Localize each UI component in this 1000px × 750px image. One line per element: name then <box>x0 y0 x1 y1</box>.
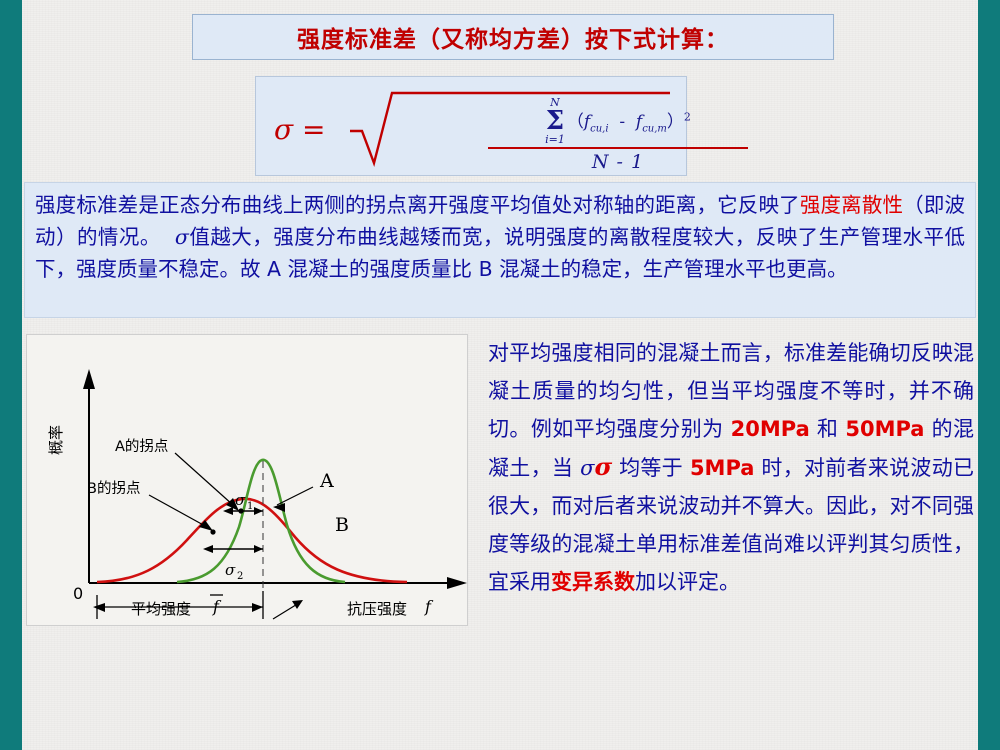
slide-stage: 强度标准差（又称均方差）按下式计算： σ = N Σ i=1 （fcu,i - … <box>0 0 1000 750</box>
p1-highlight-dispersion: 强度离散性 <box>800 193 903 217</box>
figure-mean-label: 平均强度 <box>131 600 191 618</box>
p2-sigma-red: σ <box>594 452 612 481</box>
figure-x-axis-symbol: f <box>424 597 434 616</box>
title-banner: 强度标准差（又称均方差）按下式计算： <box>192 14 834 60</box>
p2-sigma-blue: σ <box>580 456 594 480</box>
summation-symbol: N Σ i=1 <box>545 97 565 145</box>
p2-seg3: 和 <box>810 417 846 441</box>
p2-seg6: 均等于 <box>612 456 690 480</box>
paragraph-two-column: 对平均强度相同的混凝土而言，标准差能确切反映混凝土质量的均匀性，但当平均强度不等… <box>488 334 974 746</box>
formula-lhs: σ = <box>274 113 325 146</box>
figure-y-axis-label: 概率 <box>47 425 65 455</box>
figure-x-axis-label: 抗压强度 <box>347 600 407 618</box>
radical-sign: N Σ i=1 （fcu,i - fcu,m）2 N - 1 <box>348 85 668 167</box>
fraction-bar <box>488 147 748 149</box>
p2-value-5mpa: 5MPa <box>690 456 755 480</box>
paragraph-one-panel: 强度标准差是正态分布曲线上两侧的拐点离开强度平均值处对称轴的距离，它反映了强度离… <box>24 182 976 318</box>
figure-sigma2-label: σ <box>225 561 236 579</box>
p2-seg10: 加以评定。 <box>635 570 740 594</box>
numerator-expression: （fcu,i - fcu,m）2 <box>567 107 691 134</box>
page-title: 强度标准差（又称均方差）按下式计算： <box>297 20 729 54</box>
figure-callout-a: A的拐点 <box>115 438 168 455</box>
figure-sigma1-subscript: 1 <box>247 501 253 512</box>
p2-value-20mpa: 20MPa <box>731 417 810 441</box>
distribution-figure: 概率 0 A的拐点 B的拐点 A B σ 1 σ 2 平均强度 f 抗压强度 f <box>26 334 468 626</box>
fraction-denominator: N - 1 <box>478 151 758 173</box>
p1-sigma-symbol: σ <box>175 225 189 249</box>
fraction-numerator: N Σ i=1 （fcu,i - fcu,m）2 <box>478 97 758 145</box>
figure-curve-a-label: A <box>319 470 334 492</box>
paragraph-one-text: 强度标准差是正态分布曲线上两侧的拐点离开强度平均值处对称轴的距离，它反映了强度离… <box>35 189 965 285</box>
figure-origin-label: 0 <box>73 584 83 603</box>
figure-curve-b-label: B <box>335 514 349 536</box>
fraction: N Σ i=1 （fcu,i - fcu,m）2 N - 1 <box>478 97 758 173</box>
paragraph-two-text: 对平均强度相同的混凝土而言，标准差能确切反映混凝土质量的均匀性，但当平均强度不等… <box>488 334 974 601</box>
p2-highlight-variation-coefficient: 变异系数 <box>551 570 635 594</box>
formula-panel: σ = N Σ i=1 （fcu,i - fcu,m）2 <box>255 76 687 176</box>
figure-callout-b: B的拐点 <box>87 480 140 497</box>
figure-sigma2-subscript: 2 <box>237 571 243 582</box>
p2-value-50mpa: 50MPa <box>845 417 924 441</box>
p1-seg1: 强度标准差是正态分布曲线上两侧的拐点离开强度平均值处对称轴的距离，它反映了 <box>35 193 800 217</box>
figure-sigma1-label: σ <box>235 491 246 509</box>
